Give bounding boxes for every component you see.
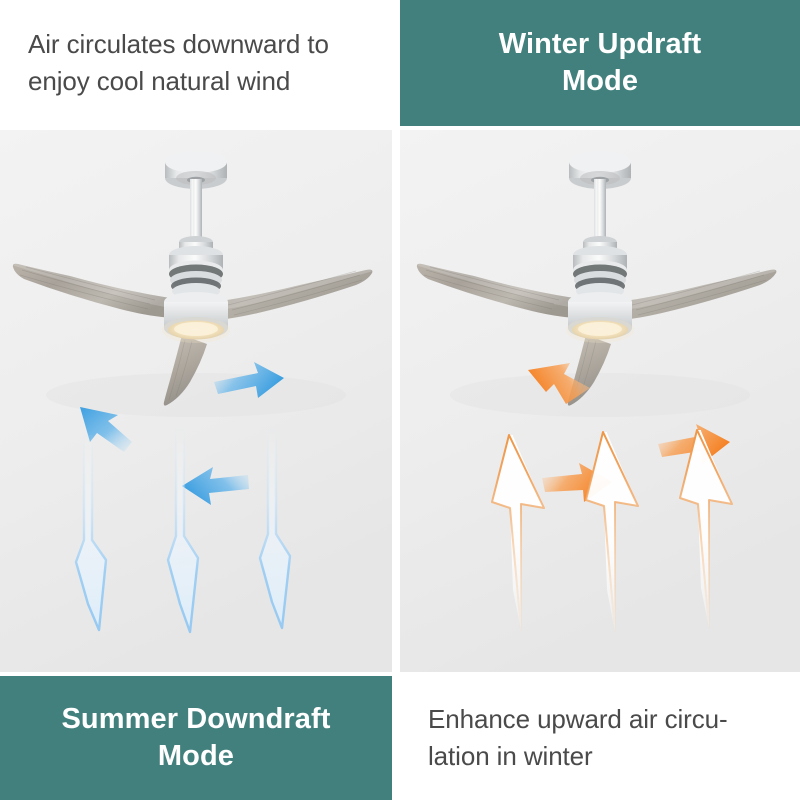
winter-title-text: Winter Updraft Mode bbox=[499, 26, 702, 100]
fan-downrod bbox=[594, 179, 606, 241]
fan-light-kit bbox=[566, 292, 634, 343]
winter-fan-illustration bbox=[400, 130, 800, 672]
summer-caption-text: Air circulates downward to enjoy cool na… bbox=[28, 26, 329, 100]
winter-fan-image bbox=[400, 130, 800, 672]
fan-downrod bbox=[190, 179, 202, 241]
fan-light-kit bbox=[162, 292, 230, 343]
winter-title-panel: Winter Updraft Mode bbox=[400, 0, 800, 126]
airflow-mode-infographic: Air circulates downward to enjoy cool na… bbox=[0, 0, 800, 800]
summer-title-panel: Summer Downdraft Mode bbox=[0, 676, 392, 800]
summer-caption-panel: Air circulates downward to enjoy cool na… bbox=[0, 0, 392, 126]
summer-fan-illustration bbox=[0, 130, 392, 672]
winter-caption-panel: Enhance upward air circu- lation in wint… bbox=[400, 676, 800, 800]
winter-caption-text: Enhance upward air circu- lation in wint… bbox=[428, 701, 728, 775]
summer-fan-image bbox=[0, 130, 392, 672]
summer-title-text: Summer Downdraft Mode bbox=[61, 701, 330, 775]
